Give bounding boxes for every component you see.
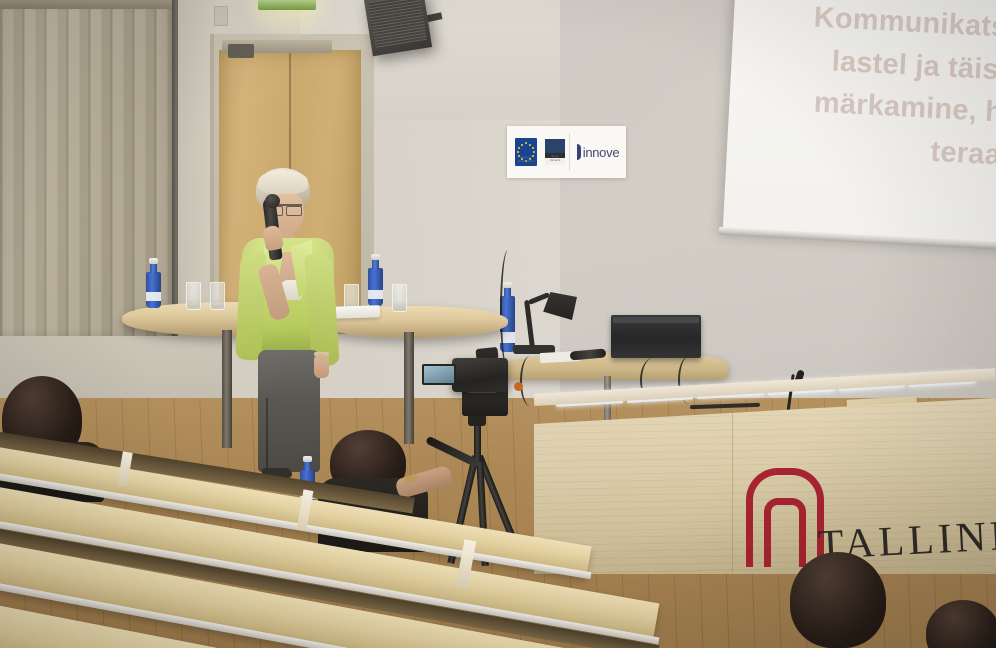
camera-lcd-screen[interactable] <box>422 364 456 385</box>
water-bottle-table-left <box>146 272 161 308</box>
drinking-glass-left-1 <box>186 282 201 310</box>
water-bottle-table-right <box>368 268 383 306</box>
speaker-grille <box>368 0 427 48</box>
water-bottle-left-label <box>146 292 161 301</box>
innove-brand-text: innove <box>583 145 620 160</box>
tripod-center-column <box>474 420 481 462</box>
logo-inner-arch <box>764 498 806 567</box>
tripod-pan-handle[interactable] <box>425 436 481 469</box>
podium-panel-seam <box>732 412 733 572</box>
poster-flags: Euroopa Sotsiaalfond Eesti Vabariik <box>507 126 569 178</box>
round-table-right-leg <box>404 332 414 444</box>
water-bottle-right-cap <box>371 254 380 260</box>
drinking-glass-right-2 <box>392 284 407 312</box>
wall-poster-funding: Euroopa Sotsiaalfond Eesti Vabariik inno… <box>507 126 626 178</box>
presenter <box>236 168 346 498</box>
exit-sign-light <box>258 0 316 10</box>
drinking-glass-left-2 <box>210 282 225 310</box>
european-union-flag-icon: Euroopa Sotsiaalfond <box>515 138 537 166</box>
laptop-computer[interactable] <box>611 315 701 358</box>
blinds-headrail <box>0 0 178 9</box>
poster-brand: innove <box>570 144 626 160</box>
innove-mark-icon <box>577 144 581 160</box>
presenter-hand-lower <box>314 354 329 378</box>
ceiling-loudspeaker <box>364 0 432 56</box>
camera-orange-dot-icon <box>514 382 523 391</box>
tallinn-university-arch-logo <box>746 468 810 560</box>
audience-head-front-right <box>790 552 886 648</box>
slide-text-block: Kommunikatsio lastel ja täiska märkamine… <box>726 0 996 178</box>
water-bottle-left-cap <box>149 258 158 264</box>
water-bottle-bench-cap <box>303 456 312 462</box>
eu-flag-caption: Euroopa Sotsiaalfond <box>518 156 534 163</box>
presenter-fringe <box>258 170 308 194</box>
video-camera-body <box>452 358 508 392</box>
lecture-hall-photo: Kommunikatsio lastel ja täiska märkamine… <box>0 0 996 648</box>
round-table-left-leg <box>222 330 232 448</box>
door-closer-box <box>228 44 254 58</box>
laptop-hinge <box>613 317 699 323</box>
estonia-flag-icon: Eesti Vabariik <box>545 139 565 165</box>
trouser-seam <box>266 398 268 474</box>
estonia-flag-caption: Eesti Vabariik <box>548 155 562 162</box>
water-bottle-right-label <box>368 290 383 299</box>
wall-plate <box>214 6 228 26</box>
glasses-lens-right <box>286 206 302 216</box>
projection-screen: Kommunikatsio lastel ja täiska märkamine… <box>722 0 996 260</box>
